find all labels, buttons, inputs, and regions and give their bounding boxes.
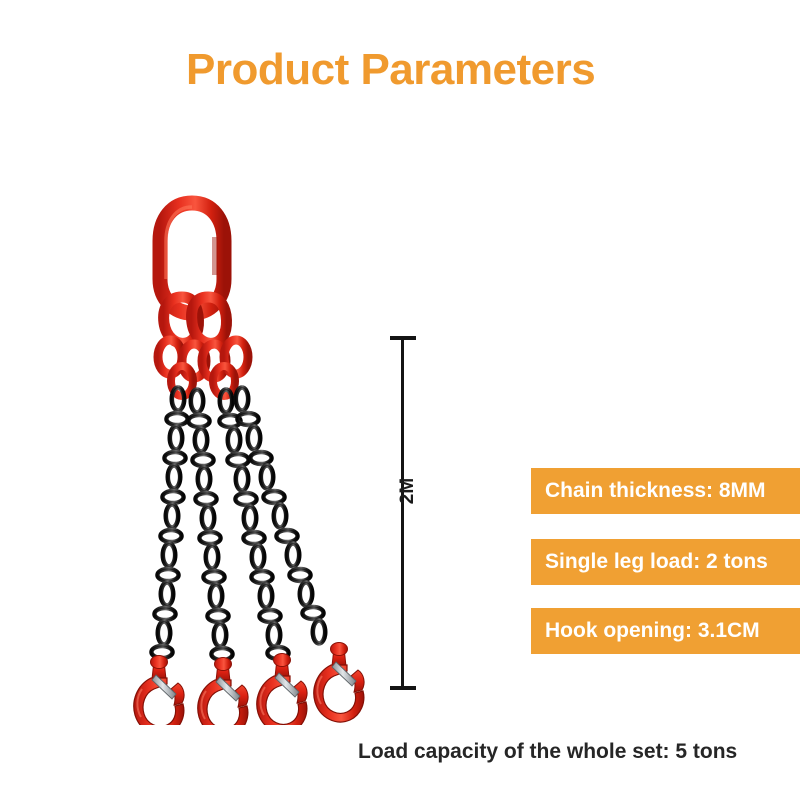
hook-4 xyxy=(314,643,364,722)
hook-3 xyxy=(257,654,307,726)
product-illustration xyxy=(90,185,400,725)
spec-badge-label: Hook opening: 3.1CM xyxy=(545,619,760,643)
product-parameters-page: Product Parameters xyxy=(0,0,800,800)
dimension-tick-bottom xyxy=(390,686,416,690)
chain-leg-2 xyxy=(188,390,232,660)
dimension-line xyxy=(401,338,404,688)
hook-2 xyxy=(198,658,248,726)
hook-1 xyxy=(134,656,184,726)
spec-badge-label: Chain thickness: 8MM xyxy=(545,479,766,503)
spec-badge-single-leg-load: Single leg load: 2 tons xyxy=(531,539,800,585)
load-capacity-caption: Load capacity of the whole set: 5 tons xyxy=(358,740,737,764)
chain-leg-4 xyxy=(236,388,325,644)
spec-badge-chain-thickness: Chain thickness: 8MM xyxy=(531,468,800,514)
spec-badge-label: Single leg load: 2 tons xyxy=(545,550,768,574)
chain-leg-1 xyxy=(151,388,187,658)
dimension-label: 2M xyxy=(397,478,419,504)
dimension-annotation: 2M xyxy=(386,330,422,696)
spec-badge-hook-opening: Hook opening: 3.1CM xyxy=(531,608,800,654)
page-title: Product Parameters xyxy=(186,45,595,95)
